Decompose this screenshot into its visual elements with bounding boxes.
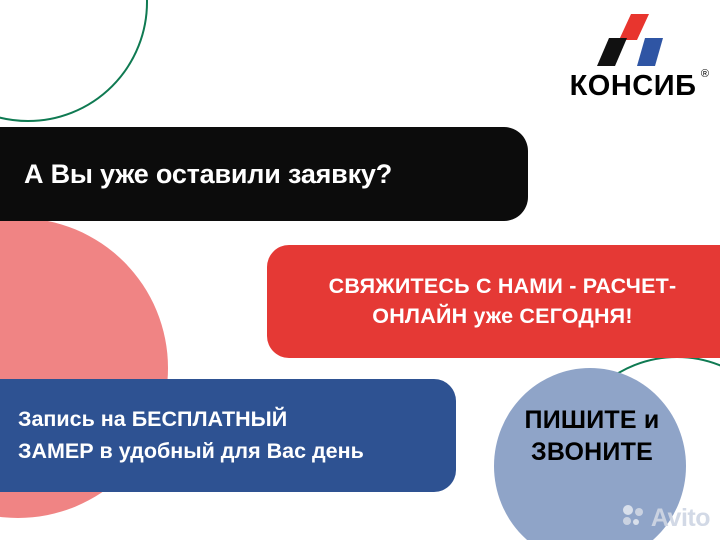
- question-banner-text: А Вы уже оставили заявку?: [24, 159, 488, 190]
- registered-mark: ®: [701, 69, 710, 80]
- three-parallelograms-logo-icon: [583, 14, 683, 70]
- free-measurement-banner-line-2: ЗАМЕР в удобный для Вас день: [18, 436, 438, 467]
- avito-dots-icon: [621, 505, 647, 532]
- contact-banner-line-2-part-c: СЕГОДНЯ!: [519, 304, 632, 328]
- contact-banner-line-2-part-b: уже: [474, 304, 520, 328]
- contact-banner: СВЯЖИТЕСЬ С НАМИ - РАСЧЕТ- ОНЛАЙН уже СЕ…: [267, 245, 720, 358]
- brand-wordmark: КОНСИБ ®: [570, 72, 697, 101]
- callout-line-1: ПИШИТЕ и: [497, 404, 687, 436]
- avito-watermark: Avito: [621, 505, 710, 532]
- write-and-call-callout: ПИШИТЕ и ЗВОНИТЕ: [497, 404, 687, 468]
- contact-banner-line-2-part-a: ОНЛАЙН: [372, 304, 473, 328]
- poster-canvas: КОНСИБ ® А Вы уже оставили заявку? СВЯЖИ…: [0, 0, 720, 540]
- free-measurement-banner: Запись на БЕСПЛАТНЫЙ ЗАМЕР в удобный для…: [0, 379, 456, 492]
- green-circle-outline-top-left-icon: [0, 0, 148, 122]
- brand-logo: КОНСИБ ®: [558, 14, 708, 101]
- brand-name: КОНСИБ: [570, 70, 697, 102]
- contact-banner-line-2: ОНЛАЙН уже СЕГОДНЯ!: [372, 302, 632, 331]
- avito-watermark-text: Avito: [651, 506, 710, 531]
- free-measurement-banner-line-1: Запись на БЕСПЛАТНЫЙ: [18, 404, 438, 435]
- contact-banner-line-1: СВЯЖИТЕСЬ С НАМИ - РАСЧЕТ-: [329, 272, 677, 301]
- question-banner: А Вы уже оставили заявку?: [0, 127, 528, 221]
- callout-line-2: ЗВОНИТЕ: [497, 436, 687, 468]
